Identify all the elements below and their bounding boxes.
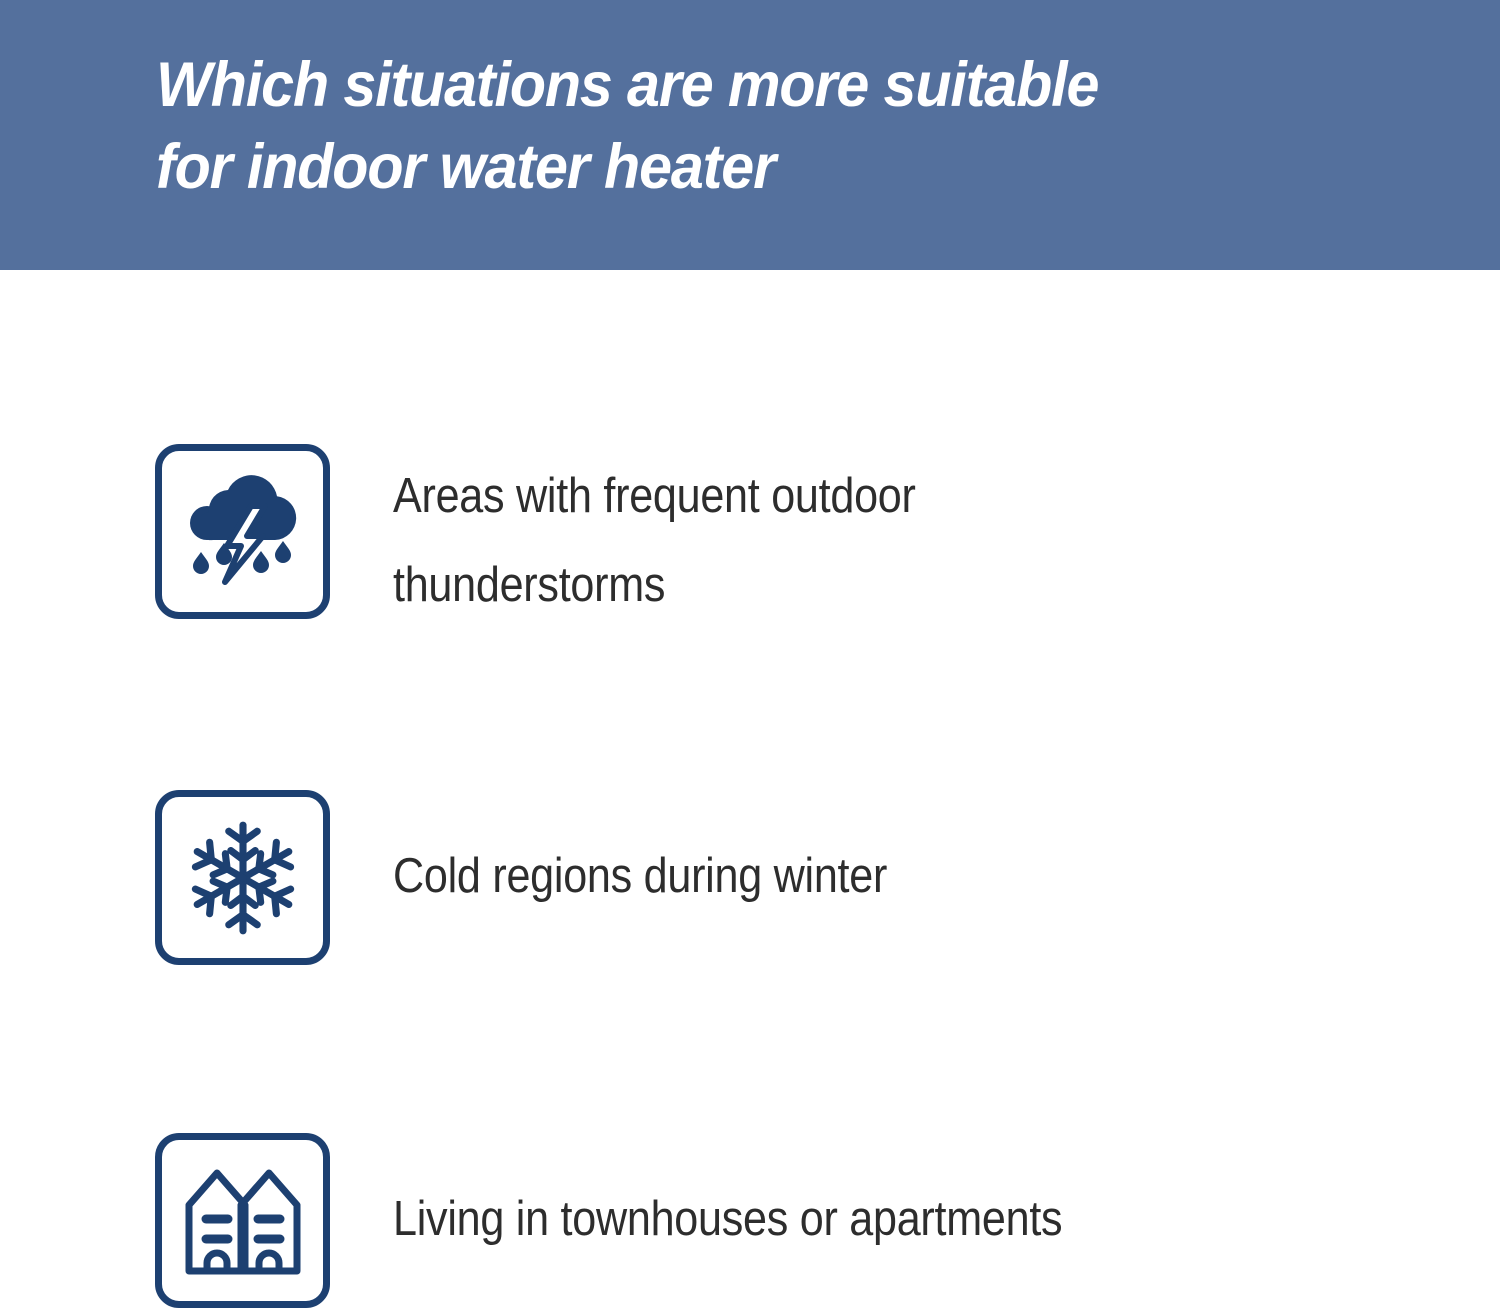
list-item-label: Areas with frequent outdoor thunderstorm… [393, 452, 1273, 630]
infographic-page: Which situations are more suitable for i… [0, 0, 1500, 1315]
list-item-label: Living in townhouses or apartments [393, 1175, 1273, 1264]
list-item: Areas with frequent outdoor thunderstorm… [0, 444, 1500, 619]
list-item-label: Cold regions during winter [393, 832, 1273, 921]
list-item: Living in townhouses or apartments [0, 1133, 1500, 1308]
icon-frame-snowflake [155, 790, 330, 965]
thunderstorm-icon [179, 468, 307, 596]
header-banner: Which situations are more suitable for i… [0, 0, 1500, 270]
icon-frame-thunderstorm [155, 444, 330, 619]
list-item: Cold regions during winter [0, 790, 1500, 965]
icon-frame-townhouses [155, 1133, 330, 1308]
townhouses-icon [181, 1159, 305, 1283]
situation-list: Areas with frequent outdoor thunderstorm… [0, 270, 1500, 1315]
snowflake-icon [182, 817, 304, 939]
page-title: Which situations are more suitable for i… [156, 44, 1340, 208]
